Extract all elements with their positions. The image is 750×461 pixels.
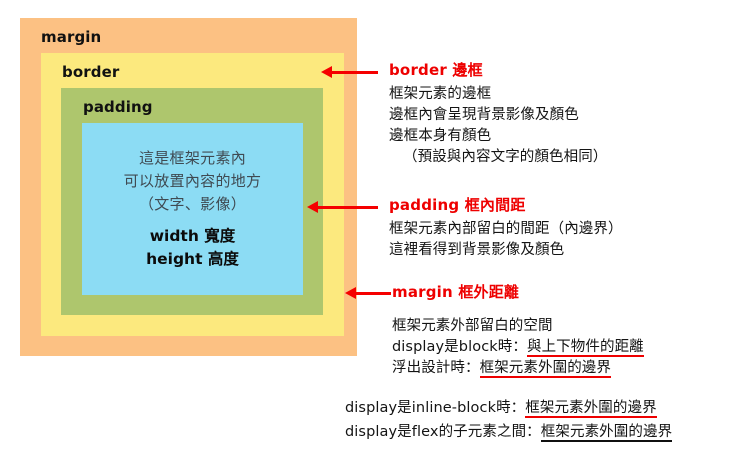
flex-child-emphasis: 框架元素外圍的邊界 bbox=[541, 424, 672, 442]
padding-annotation-title: padding 框內間距 bbox=[389, 194, 623, 215]
extra-annotation: display是inline-block時：框架元素外圍的邊界 display是… bbox=[345, 396, 672, 444]
content-line-3: （文字、影像） bbox=[82, 193, 303, 216]
padding-annotation: padding 框內間距 框架元素內部留白的間距（內邊界） 這裡看得到背景影像及… bbox=[389, 194, 623, 261]
float-prefix: 浮出設計時： bbox=[392, 360, 480, 376]
border-label: border bbox=[62, 63, 119, 81]
border-annotation-line-3: 邊框本身有顏色 bbox=[389, 126, 607, 147]
padding-annotation-line-1: 框架元素內部留白的間距（內邊界） bbox=[389, 219, 623, 240]
border-annotation-line-1: 框架元素的邊框 bbox=[389, 84, 607, 105]
inline-block-emphasis: 框架元素外圍的邊界 bbox=[525, 400, 656, 418]
margin-annotation: margin 框外距離 框架元素外部留白的空間 display是block時：與… bbox=[392, 281, 644, 379]
padding-annotation-line-2: 這裡看得到背景影像及顏色 bbox=[389, 240, 623, 261]
border-annotation-line-2: 邊框內會呈現背景影像及顏色 bbox=[389, 105, 607, 126]
border-annotation-title: border 邊框 bbox=[389, 59, 607, 80]
display-block-emphasis: 與上下物件的距離 bbox=[527, 339, 644, 357]
box-model-diagram: margin border padding 這是框架元素內 可以放置內容的地方 … bbox=[20, 18, 357, 356]
margin-annotation-line-3: 浮出設計時：框架元素外圍的邊界 bbox=[392, 358, 644, 379]
padding-annotation-body: 框架元素內部留白的間距（內邊界） 這裡看得到背景影像及顏色 bbox=[389, 219, 623, 261]
margin-annotation-line-2: display是block時：與上下物件的距離 bbox=[392, 337, 644, 358]
content-line-1: 這是框架元素內 bbox=[82, 147, 303, 170]
float-emphasis: 框架元素外圍的邊界 bbox=[480, 360, 611, 378]
width-label: width 寬度 bbox=[82, 225, 303, 248]
flex-child-prefix: display是flex的子元素之間： bbox=[345, 424, 541, 440]
border-annotation-line-4: （預設與內容文字的顏色相同） bbox=[389, 147, 607, 168]
content-line-2: 可以放置內容的地方 bbox=[82, 170, 303, 193]
border-annotation-body: 框架元素的邊框 邊框內會呈現背景影像及顏色 邊框本身有顏色 （預設與內容文字的顏… bbox=[389, 84, 607, 168]
height-label: height 高度 bbox=[82, 248, 303, 271]
inline-block-prefix: display是inline-block時： bbox=[345, 400, 525, 416]
margin-annotation-line-1: 框架元素外部留白的空間 bbox=[392, 316, 644, 337]
arrow-shaft bbox=[354, 292, 391, 295]
margin-label: margin bbox=[41, 28, 101, 46]
padding-label: padding bbox=[83, 98, 153, 116]
flex-child-line: display是flex的子元素之間：框架元素外圍的邊界 bbox=[345, 420, 672, 444]
margin-annotation-body: 框架元素外部留白的空間 display是block時：與上下物件的距離 浮出設計… bbox=[392, 316, 644, 379]
inline-block-line: display是inline-block時：框架元素外圍的邊界 bbox=[345, 396, 672, 420]
content-text-block: 這是框架元素內 可以放置內容的地方 （文字、影像） width 寬度 heigh… bbox=[82, 147, 303, 271]
border-annotation: border 邊框 框架元素的邊框 邊框內會呈現背景影像及顏色 邊框本身有顏色 … bbox=[389, 59, 607, 168]
content-dimensions: width 寬度 height 高度 bbox=[82, 225, 303, 271]
content-layer: 這是框架元素內 可以放置內容的地方 （文字、影像） width 寬度 heigh… bbox=[82, 123, 303, 295]
display-block-prefix: display是block時： bbox=[392, 339, 527, 355]
margin-annotation-title: margin 框外距離 bbox=[392, 281, 644, 302]
